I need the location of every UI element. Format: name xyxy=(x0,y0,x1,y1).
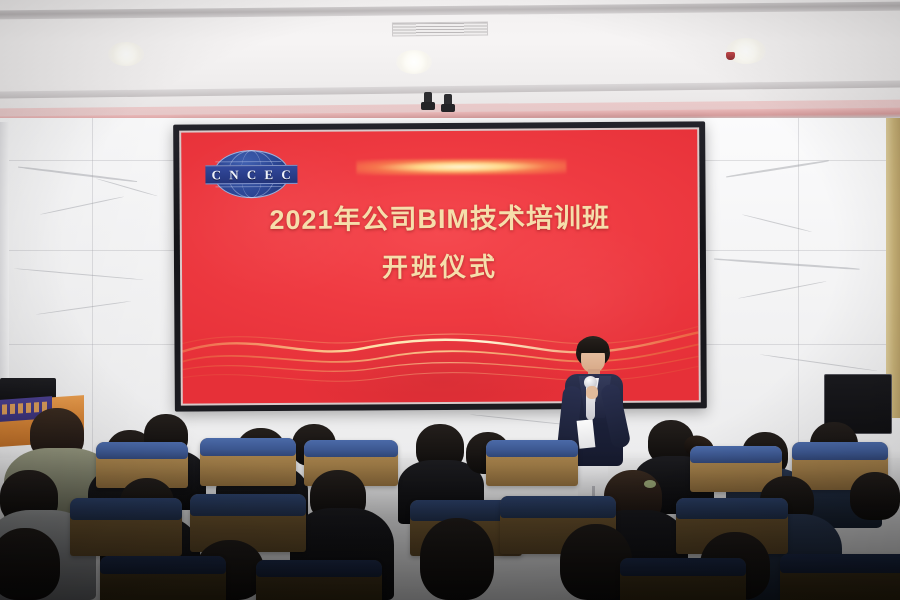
marble-vein xyxy=(738,281,827,299)
ceiling-camera-mount xyxy=(444,94,452,110)
cncec-logo: C N C E C xyxy=(205,148,297,201)
screen-title-sub: 开班仪式 xyxy=(182,251,698,283)
audience-head xyxy=(420,518,494,600)
screen-title-main: 2021年公司BIM技术培训班 xyxy=(182,203,698,236)
presenter-fringe xyxy=(577,339,609,353)
downlight-icon xyxy=(108,42,144,66)
ceiling xyxy=(0,0,900,120)
wall-panel-seam xyxy=(798,118,799,458)
marble-vein xyxy=(742,214,812,233)
auditorium-seat[interactable] xyxy=(256,560,382,600)
marble-vein xyxy=(726,160,829,178)
downlight-icon xyxy=(396,50,432,74)
auditorium-photo: C N C E C 2021年公司BIM技术培训班 开班仪式 xyxy=(0,0,900,600)
marble-vein xyxy=(18,166,137,182)
marble-vein xyxy=(714,258,860,270)
downlight-icon xyxy=(726,38,766,64)
wall-edge-trim-right xyxy=(886,118,900,418)
auditorium-seat[interactable] xyxy=(620,558,746,600)
ceiling-beam xyxy=(0,1,900,19)
auditorium-seat[interactable] xyxy=(200,438,296,486)
marble-vein xyxy=(40,196,124,215)
auditorium-seat[interactable] xyxy=(486,440,578,486)
marble-vein xyxy=(36,301,131,316)
presenter-hand xyxy=(586,386,598,399)
air-vent xyxy=(392,21,488,36)
wall-edge-trim-left xyxy=(0,122,9,392)
wall-panel-seam xyxy=(92,118,93,458)
presenter-notes xyxy=(577,419,596,449)
ceiling-projector-mount xyxy=(424,92,432,108)
hair-tie xyxy=(644,480,656,488)
marble-vein xyxy=(14,268,144,281)
wave-glow xyxy=(356,158,566,175)
logo-text: C N C E C xyxy=(210,168,294,182)
marble-vein xyxy=(760,354,877,372)
audience-head xyxy=(0,528,60,600)
sprinkler-head xyxy=(726,52,735,60)
logo-banner: C N C E C xyxy=(205,165,297,185)
audience-head xyxy=(850,472,900,520)
screen-title-block: 2021年公司BIM技术培训班 开班仪式 xyxy=(182,203,698,282)
auditorium-seat[interactable] xyxy=(70,498,182,556)
auditorium-seat[interactable] xyxy=(780,554,900,600)
auditorium-seat[interactable] xyxy=(100,556,226,600)
